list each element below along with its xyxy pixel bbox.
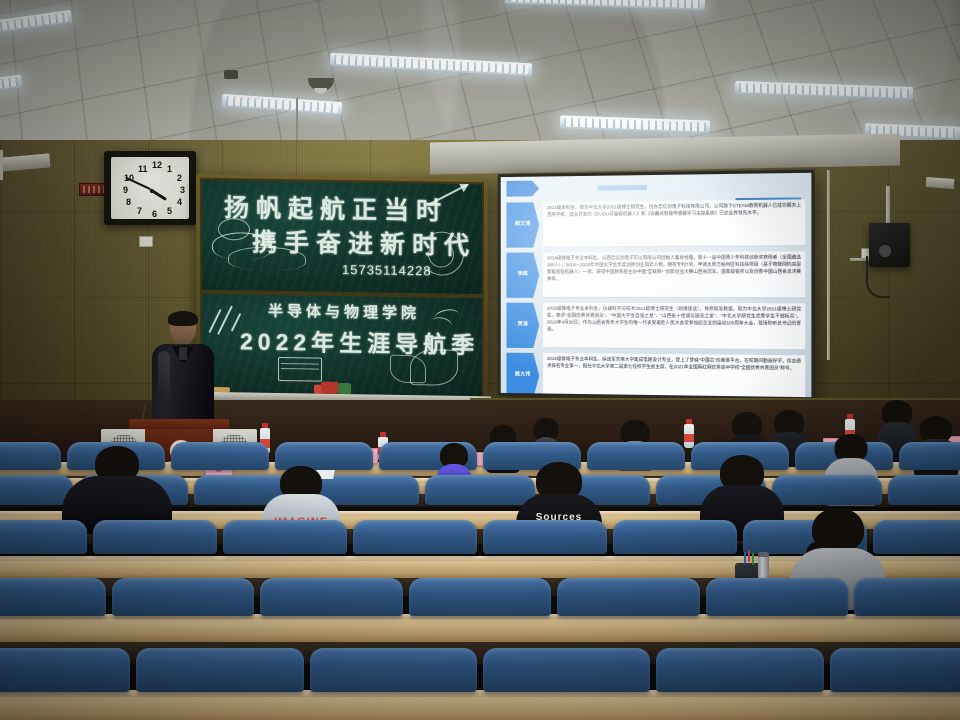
- chalk-tray-item: [338, 383, 351, 394]
- seat[interactable]: [260, 578, 403, 616]
- blackboard: 扬帆起航正当时 携手奋进新时代 15735114228 半导体与物理学院 202…: [196, 174, 488, 401]
- wall-outlet: [139, 236, 153, 247]
- projected-slide: 郝文涛 2014级本科生，现为中北大学2021级博士研究生，创办忠信创电子科技有…: [501, 173, 812, 397]
- slide-corner-decoration: [506, 181, 539, 197]
- presenter-hair: [168, 311, 198, 326]
- slide-rows: 郝文涛 2014级本科生，现为中北大学2021级博士研究生，创办忠信创电子科技有…: [506, 199, 805, 391]
- slide-content: 郝文涛 2014级本科生，现为中北大学2021级博士研究生，创办忠信创电子科技有…: [501, 173, 812, 397]
- presenter-shirt: [179, 347, 187, 360]
- slide-title-badge: [598, 185, 647, 191]
- slide-row-description: 2016级微电子专业本科生，保送至东南大学集成电路设计专业，登上了梦寐“中国芯”…: [543, 353, 805, 397]
- seat[interactable]: [223, 520, 347, 554]
- seat[interactable]: [409, 578, 552, 616]
- projection-screen: 郝文涛 2014级本科生，现为中北大学2021级博士研究生，创办忠信创电子科技有…: [498, 170, 815, 401]
- clock-face: 12 1 2 3 4 5 6 7 8 9 10 11: [111, 157, 189, 219]
- presenter: [152, 313, 214, 429]
- clock-number: 1: [167, 165, 172, 174]
- clock-minute-hand: [125, 177, 150, 190]
- clock-number: 9: [123, 186, 128, 195]
- seat[interactable]: [310, 648, 477, 692]
- speaker-mount-bracket: [886, 186, 890, 226]
- slide-row: 贾涛 2015级微电子专业本科生，仪器科学与技术2021级博士研究生（硕博连读）…: [506, 303, 805, 351]
- chalk-tray-item: [321, 382, 338, 394]
- seat[interactable]: [613, 520, 737, 554]
- wall-conduit: [827, 170, 830, 360]
- clock-number: 3: [180, 186, 185, 195]
- seat[interactable]: [656, 648, 823, 692]
- slide-row: 李辉 2014级微电子专业本科生，山西忠信创电子可以有限公司创始人兼总经理，第十…: [506, 251, 805, 298]
- lecture-hall-photo: 12 1 2 3 4 5 6 7 8 9 10 11: [0, 0, 960, 720]
- blackboard-upper-panel: 扬帆起航正当时 携手奋进新时代 15735114228: [200, 178, 484, 296]
- clock-number: 4: [177, 198, 182, 207]
- wall-clock: 12 1 2 3 4 5 6 7 8 9 10 11: [104, 151, 196, 225]
- seat[interactable]: [112, 578, 255, 616]
- seat[interactable]: [706, 578, 849, 616]
- clock-number: 5: [167, 207, 172, 216]
- clock-number: 7: [137, 207, 142, 216]
- seat[interactable]: [171, 442, 269, 470]
- seat[interactable]: [0, 442, 61, 470]
- blackboard-headline-2: 携手奋进新时代: [252, 223, 476, 263]
- seat[interactable]: [353, 520, 477, 554]
- clock-number: 8: [126, 198, 131, 207]
- pen: [744, 552, 746, 564]
- slide-row-name-tab: 贾涛: [506, 303, 539, 348]
- blackboard-phone-number: 15735114228: [342, 262, 432, 278]
- slide-row: 姚大伟 2016级微电子专业本科生，保送至东南大学集成电路设计专业，登上了梦寐“…: [506, 353, 805, 397]
- pen: [748, 550, 750, 562]
- blackboard-department-line: 半导体与物理学院: [268, 300, 420, 323]
- clock-center-pin: [150, 189, 154, 193]
- seat[interactable]: [830, 648, 960, 692]
- slide-row-description: 2014级微电子专业本科生，山西忠信创电子可以有限公司创始人兼总经理，第十一届中…: [543, 251, 805, 298]
- presenter-jacket-highlight: [158, 351, 170, 403]
- seat[interactable]: [0, 520, 87, 554]
- wall-lamp: [926, 177, 955, 189]
- pen: [752, 553, 754, 565]
- seat[interactable]: [854, 578, 960, 616]
- blackboard-event-line: 2022年生涯导航季: [240, 322, 479, 360]
- seat[interactable]: [93, 520, 217, 554]
- seat[interactable]: [483, 648, 650, 692]
- seat[interactable]: [483, 520, 607, 554]
- wall-conduit: [0, 150, 3, 180]
- slide-row-name-tab: 郝文涛: [506, 202, 539, 247]
- slide-row-description: 2014级本科生，现为中北大学2021级博士研究生，创办忠信创电子科技有限公司，…: [543, 199, 805, 247]
- clock-number: 12: [152, 161, 162, 170]
- clock-number: 6: [152, 210, 157, 219]
- seat[interactable]: [0, 648, 130, 692]
- slide-row: 郝文涛 2014级本科生，现为中北大学2021级博士研究生，创办忠信创电子科技有…: [506, 199, 805, 247]
- smoke-detector-icon: [224, 70, 238, 79]
- clock-number: 2: [177, 174, 182, 183]
- seat[interactable]: [0, 578, 106, 616]
- seat[interactable]: [557, 578, 700, 616]
- slide-row-description: 2015级微电子专业本科生，仪器科学与技术2021级博士研究生（硕博连读），导师…: [543, 303, 805, 350]
- seat[interactable]: [136, 648, 303, 692]
- seat[interactable]: [888, 475, 960, 505]
- speaker-cable: [866, 256, 890, 298]
- slide-row-name-tab: 李辉: [506, 252, 539, 297]
- clock-number: 11: [138, 165, 148, 174]
- seat[interactable]: [899, 442, 960, 470]
- seat[interactable]: [772, 475, 882, 505]
- student-front-left: [62, 446, 172, 530]
- seat-row[interactable]: [0, 578, 960, 616]
- seat-row[interactable]: [0, 648, 960, 692]
- slide-row-name-tab: 姚大伟: [506, 353, 539, 397]
- seat[interactable]: [873, 520, 960, 554]
- chalk-book-doodle: [278, 357, 322, 382]
